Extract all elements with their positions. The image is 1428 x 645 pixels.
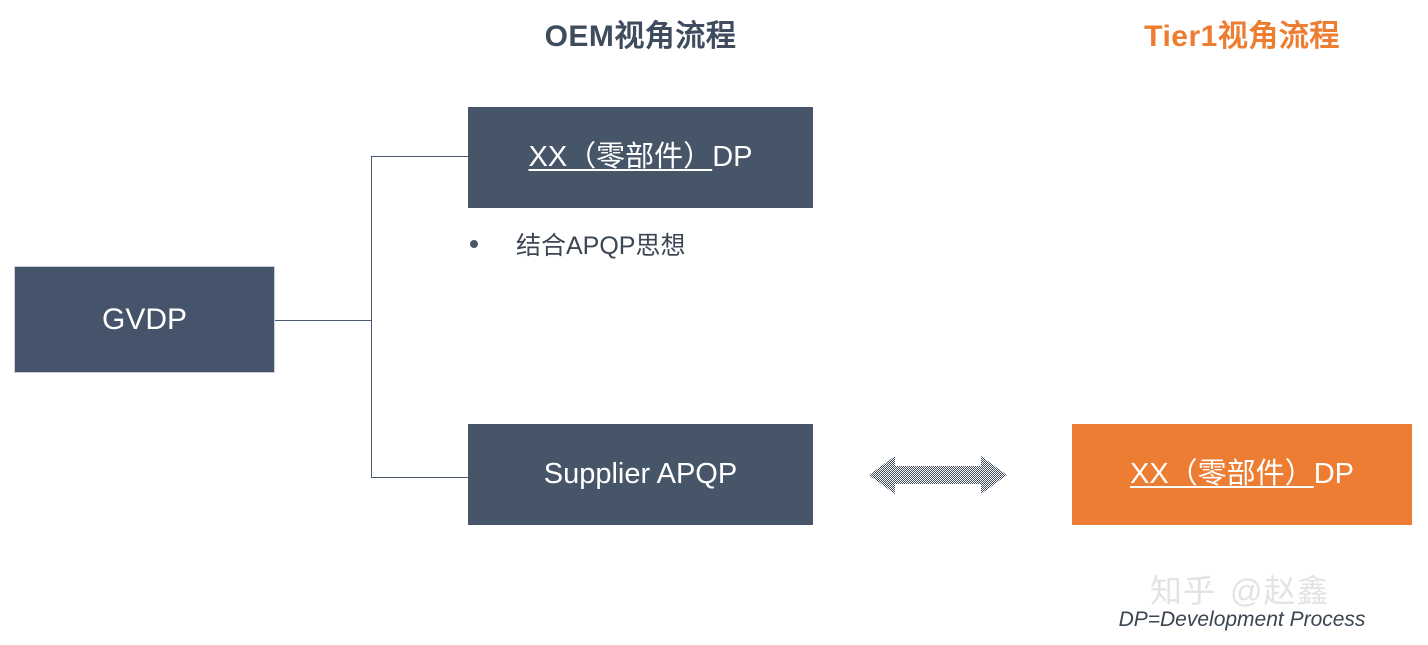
- node-supplier-apqp-label: Supplier APQP: [544, 457, 737, 492]
- connector-gvdp-to-trunk: [274, 320, 372, 321]
- node-tier1-component-dp-label-suffix: DP: [1314, 458, 1354, 490]
- node-oem-component-dp-label-underlined: XX（零部件）: [529, 141, 713, 173]
- node-tier1-component-dp-label-underlined: XX（零部件）: [1130, 458, 1314, 490]
- connector-trunk-vertical: [371, 156, 372, 478]
- column-title-tier1: Tier1视角流程: [1072, 22, 1412, 52]
- connector-branch-to-oem-dp: [371, 156, 469, 157]
- node-supplier-apqp[interactable]: Supplier APQP: [468, 424, 813, 525]
- bullet-list-item: 结合APQP思想: [470, 226, 685, 262]
- node-gvdp-label: GVDP: [102, 302, 187, 338]
- node-gvdp[interactable]: GVDP: [14, 266, 275, 373]
- watermark-brand: 知乎: [1150, 573, 1216, 609]
- diagram-canvas: OEM视角流程 Tier1视角流程 GVDP XX（零部件）DP 结合APQP思…: [0, 0, 1428, 645]
- bidirectional-arrow-icon: [869, 452, 1007, 498]
- footnote-dp-definition: DP=Development Process: [1072, 608, 1412, 632]
- watermark: 知乎@赵鑫: [1150, 566, 1330, 612]
- node-oem-component-dp-label-suffix: DP: [712, 141, 752, 173]
- node-tier1-component-dp[interactable]: XX（零部件）DP: [1072, 424, 1412, 525]
- connector-branch-to-supplier-apqp: [371, 477, 469, 478]
- watermark-handle: @赵鑫: [1230, 573, 1330, 609]
- node-tier1-component-dp-label: XX（零部件）DP: [1130, 457, 1354, 492]
- node-oem-component-dp[interactable]: XX（零部件）DP: [468, 107, 813, 208]
- node-oem-component-dp-label: XX（零部件）DP: [529, 140, 753, 175]
- bullet-item-text: 结合APQP思想: [516, 226, 685, 262]
- bullet-dot-icon: [470, 240, 478, 248]
